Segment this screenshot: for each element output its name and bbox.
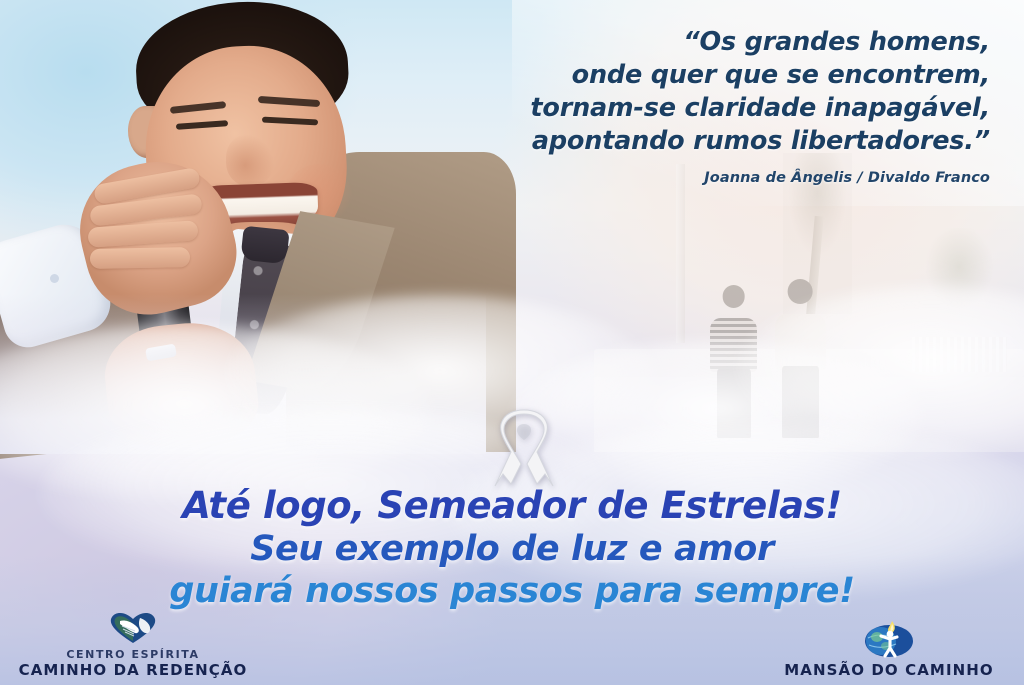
quote-line-4: apontando rumos libertadores.”: [390, 125, 990, 158]
tie-knot: [240, 226, 289, 265]
scene-person-torso: [775, 314, 827, 370]
scene-person-white-shirt: [775, 279, 827, 434]
quote-line-1: “Os grandes homens,: [390, 26, 990, 59]
centro-espirita-line-1: CENTRO ESPÍRITA: [8, 648, 258, 661]
footer-logo-mansao-do-caminho: MANSÃO DO CAMINHO: [764, 618, 1014, 679]
mansao-do-caminho-label: MANSÃO DO CAMINHO: [764, 661, 1014, 679]
memorial-poster: “Os grandes homens, onde quer que se enc…: [0, 0, 1024, 685]
background-scene-photo: [594, 164, 1024, 452]
portrait-divaldo-franco: [0, 0, 456, 434]
scene-palm: [912, 228, 998, 326]
scene-person-head: [788, 279, 813, 304]
scene-person-legs: [782, 366, 819, 437]
headline-line-2: Seu exemplo de luz e amor: [0, 528, 1024, 570]
portrait-fade-overlay: [0, 294, 486, 454]
finger: [90, 247, 190, 269]
globe-figure-flame-icon: [862, 618, 916, 658]
headline-line-3: guiará nossos passos para sempre!: [0, 570, 1024, 612]
scene-person-striped: [710, 285, 757, 435]
scene-person-torso: [710, 318, 757, 372]
cuff-button: [50, 274, 59, 283]
scene-fence: [912, 337, 1007, 372]
scene-person-legs: [717, 369, 751, 438]
headline-line-1: Até logo, Semeador de Estrelas!: [0, 484, 1024, 528]
quote-line-3: tornam-se claridade inapagável,: [390, 92, 990, 125]
mourning-ribbon-icon: [487, 408, 561, 490]
footer-logo-centro-espirita: CENTRO ESPÍRITA CAMINHO DA REDENÇÃO: [8, 609, 258, 679]
scene-person-head: [722, 285, 745, 308]
heart-hands-icon: [104, 609, 162, 645]
quote-line-2: onde quer que se encontrem,: [390, 59, 990, 92]
headline-block: Até logo, Semeador de Estrelas! Seu exem…: [0, 484, 1024, 612]
scene-pole: [676, 164, 685, 342]
nose: [226, 134, 274, 186]
quote-block: “Os grandes homens, onde quer que se enc…: [390, 26, 990, 186]
centro-espirita-line-2: CAMINHO DA REDENÇÃO: [8, 661, 258, 679]
quote-attribution: Joanna de Ângelis / Divaldo Franco: [390, 170, 990, 186]
